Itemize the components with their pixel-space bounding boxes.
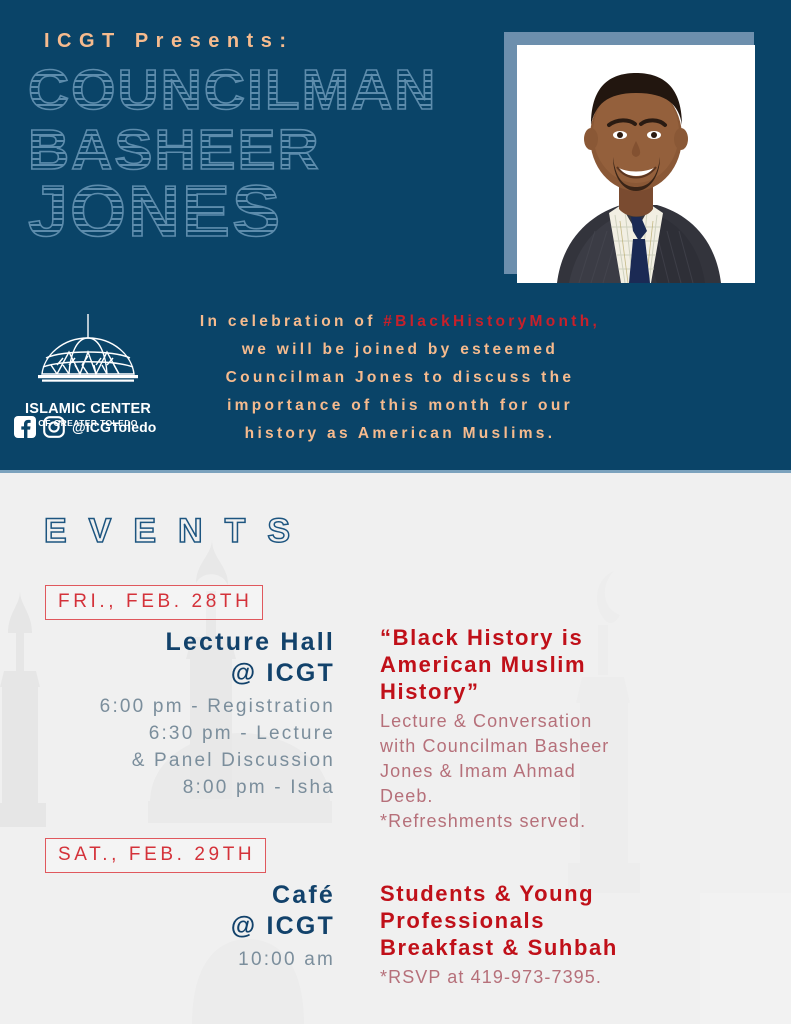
- event-1-place-line-1: Lecture Hall: [35, 627, 335, 658]
- event-2-body-line-1: *RSVP at 419-973-7395.: [380, 965, 710, 990]
- portrait-illustration: [517, 45, 755, 283]
- event-1-body-line-5: *Refreshments served.: [380, 809, 710, 834]
- event-1-place-line-2: @ ICGT: [35, 658, 335, 689]
- speaker-name-line-3-stripes: JONES: [28, 176, 498, 248]
- event-1-time-1: 6:00 pm - Registration: [35, 693, 335, 720]
- instagram-icon[interactable]: [43, 416, 65, 438]
- social-links: @ICGToledo: [14, 416, 156, 438]
- event-2-title-line-1: Students & Young: [380, 880, 710, 907]
- event-1-time-2: 6:30 pm - Lecture: [35, 720, 335, 747]
- event-1-body-line-1: Lecture & Conversation: [380, 709, 710, 734]
- presenter-line: ICGT Presents:: [44, 30, 293, 53]
- event-flyer: ICGT Presents: COUNCILMAN COUNCILMAN BAS…: [0, 0, 791, 1024]
- event-2-description: Students & Young Professionals Breakfast…: [380, 880, 710, 990]
- speaker-name-line-1-stripes: COUNCILMAN: [28, 62, 498, 119]
- event-2-place-line-2: @ ICGT: [35, 911, 335, 942]
- speaker-name-line-2-stripes: BASHEER: [28, 122, 498, 179]
- description-line-2: we will be joined by esteemed: [130, 336, 670, 364]
- event-2-date-badge: SAT., FEB. 29TH: [45, 838, 266, 873]
- event-2-title-line-3: Breakfast & Suhbah: [380, 934, 710, 961]
- speaker-portrait: [517, 45, 755, 283]
- event-2-time-1: 10:00 am: [35, 946, 335, 973]
- event-1-title-line-3: History”: [380, 678, 710, 705]
- event-description: In celebration of #BlackHistoryMonth, we…: [130, 308, 670, 448]
- logo-title: ISLAMIC CENTER: [18, 401, 158, 417]
- event-1-body-line-4: Deeb.: [380, 784, 710, 809]
- event-1-title-line-1: “Black History is: [380, 624, 710, 651]
- mosque-dome-icon: [18, 312, 158, 394]
- event-1-body-line-3: Jones & Imam Ahmad: [380, 759, 710, 784]
- facebook-icon[interactable]: [14, 416, 36, 438]
- event-1-description: “Black History is American Muslim Histor…: [380, 624, 710, 834]
- social-handle[interactable]: @ICGToledo: [72, 419, 156, 435]
- event-1-time-3: & Panel Discussion: [35, 747, 335, 774]
- description-line-1-text: In celebration of: [200, 313, 383, 330]
- hero-panel: ICGT Presents: COUNCILMAN COUNCILMAN BAS…: [0, 0, 791, 472]
- description-line-5: history as American Muslims.: [130, 420, 670, 448]
- description-line-3: Councilman Jones to discuss the: [130, 364, 670, 392]
- event-2-title-line-2: Professionals: [380, 907, 710, 934]
- description-line-4: importance of this month for our: [130, 392, 670, 420]
- icgt-logo: ISLAMIC CENTER OF GREATER TOLEDO: [18, 312, 158, 428]
- events-heading: EVENTS: [44, 512, 312, 551]
- event-1-date-badge: FRI., FEB. 28TH: [45, 585, 263, 620]
- event-2-place-line-1: Café: [35, 880, 335, 911]
- hashtag: #BlackHistoryMonth,: [383, 313, 600, 330]
- event-1-details: Lecture Hall @ ICGT 6:00 pm - Registrati…: [35, 627, 335, 801]
- event-1-time-4: 8:00 pm - Isha: [35, 774, 335, 801]
- event-2-details: Café @ ICGT 10:00 am: [35, 880, 335, 973]
- description-line-1: In celebration of #BlackHistoryMonth,: [130, 308, 670, 336]
- event-1-body-line-2: with Councilman Basheer: [380, 734, 710, 759]
- event-1-title-line-2: American Muslim: [380, 651, 710, 678]
